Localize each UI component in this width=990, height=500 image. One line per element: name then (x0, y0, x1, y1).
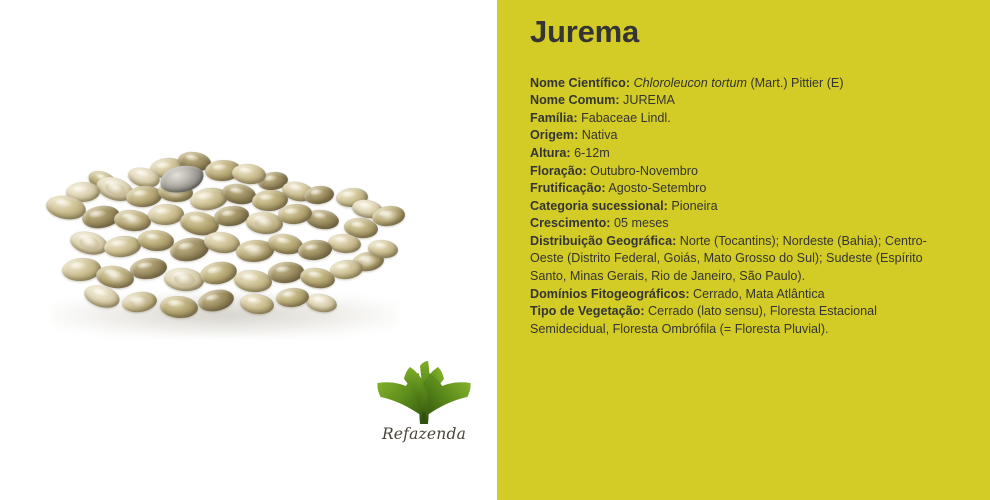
fact-label: Origem: (530, 128, 578, 142)
refazenda-logo: Refazenda (364, 352, 484, 456)
seed (147, 203, 184, 226)
seed (61, 257, 102, 283)
fact-label: Crescimento: (530, 216, 610, 230)
fact-value: Cerrado, Mata Atlântica (690, 287, 825, 301)
refazenda-wordmark: Refazenda (364, 425, 484, 443)
fact-value: Agosto-Setembro (606, 181, 707, 195)
fact-row: Altura: 6-12m (530, 145, 956, 163)
fact-label: Categoria sucessional: (530, 199, 668, 213)
fact-value: JUREMA (620, 93, 675, 107)
fact-value: Fabaceae Lindl. (578, 111, 671, 125)
refazenda-tree-icon (372, 352, 476, 426)
fact-row: Crescimento: 05 meses (530, 215, 956, 233)
fact-row: Floração: Outubro-Novembro (530, 163, 956, 181)
fact-row: Nome Científico: Chloroleucon tortum (Ma… (530, 75, 956, 93)
fact-label: Tipo de Vegetação: (530, 304, 645, 318)
seed (68, 228, 110, 259)
seed (103, 234, 142, 259)
fact-row: Domínios Fitogeográficos: Cerrado, Mata … (530, 286, 956, 304)
page-title: Jurema (530, 16, 956, 49)
scientific-authority: (Mart.) Pittier (E) (747, 76, 844, 90)
seed (137, 229, 174, 252)
seed (113, 208, 152, 233)
fact-value: Chloroleucon tortum (Mart.) Pittier (E) (630, 76, 843, 90)
seed (163, 266, 205, 292)
fact-row: Categoria sucessional: Pioneira (530, 198, 956, 216)
fact-label: Nome Comum: (530, 93, 620, 107)
fact-row: Tipo de Vegetação: Cerrado (lato sensu),… (530, 303, 956, 338)
fact-label: Família: (530, 111, 578, 125)
fact-label: Floração: (530, 164, 587, 178)
seed (129, 256, 168, 281)
fact-row: Origem: Nativa (530, 127, 956, 145)
seed (297, 238, 333, 261)
fact-value: 6-12m (571, 146, 610, 160)
fact-label: Nome Científico: (530, 76, 630, 90)
photo-panel: Refazenda (0, 0, 497, 500)
species-info-card: Refazenda Jurema Nome Científico: Chloro… (0, 0, 990, 500)
fact-label: Domínios Fitogeográficos: (530, 287, 690, 301)
fact-label: Frutificação: (530, 181, 606, 195)
fact-row: Frutificação: Agosto-Setembro (530, 180, 956, 198)
fact-row: Distribuição Geográfica: Norte (Tocantin… (530, 233, 956, 286)
fact-value: Pioneira (668, 199, 718, 213)
fact-value: Nativa (578, 128, 617, 142)
fact-value: Outubro-Novembro (587, 164, 698, 178)
fact-label: Altura: (530, 146, 571, 160)
scientific-name: Chloroleucon tortum (634, 76, 747, 90)
fact-row: Nome Comum: JUREMA (530, 92, 956, 110)
species-fact-list: Nome Científico: Chloroleucon tortum (Ma… (530, 75, 956, 339)
seed (267, 260, 305, 284)
fact-row: Família: Fabaceae Lindl. (530, 110, 956, 128)
fact-label: Distribuição Geográfica: (530, 234, 676, 248)
info-panel: Jurema Nome Científico: Chloroleucon tor… (497, 0, 990, 500)
fact-value: 05 meses (610, 216, 668, 230)
seed (198, 259, 238, 287)
